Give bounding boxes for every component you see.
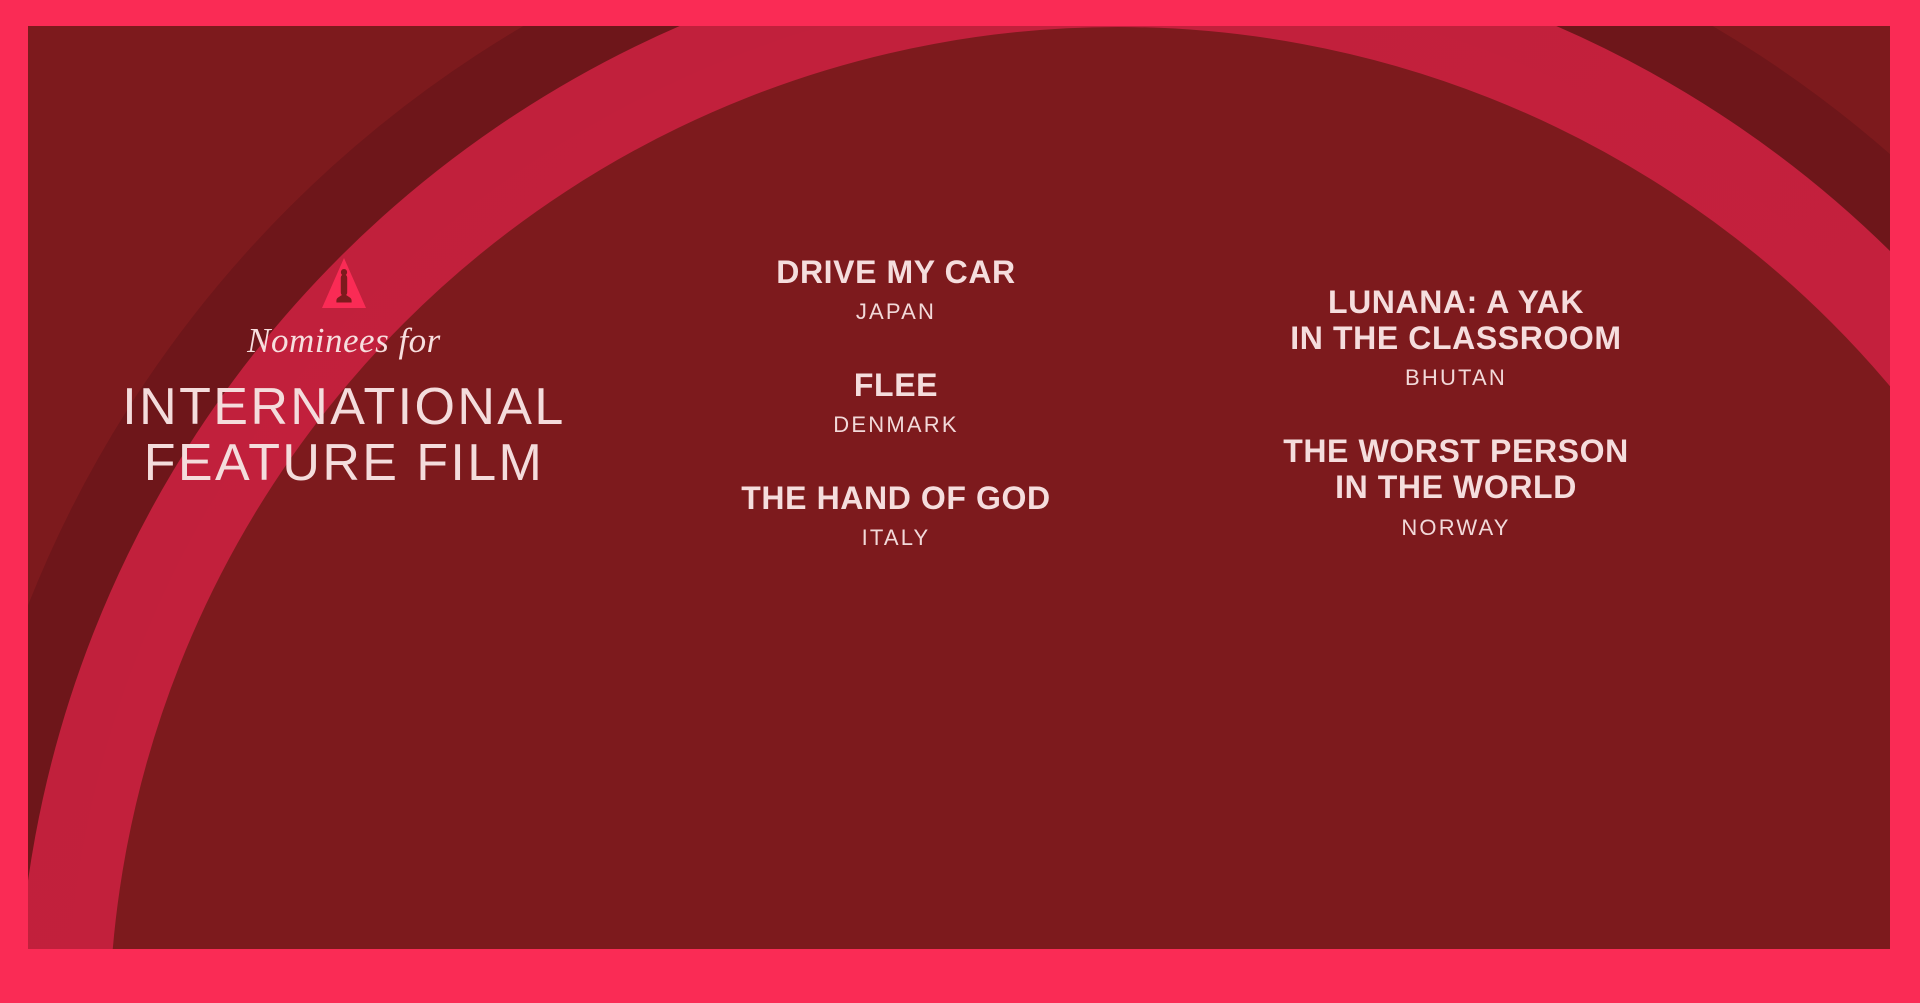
nominee-entry: THE HAND OF GOD ITALY (616, 480, 1176, 551)
nominee-title: THE HAND OF GOD (616, 480, 1176, 516)
nominee-column-center: DRIVE MY CAR JAPAN FLEE DENMARK THE HAND… (616, 254, 1176, 551)
nominee-title-line: IN THE WORLD (1146, 469, 1766, 505)
nominee-entry: THE WORST PERSON IN THE WORLD NORWAY (1146, 433, 1766, 540)
nominee-country: JAPAN (616, 299, 1176, 325)
nominee-title: LUNANA: A YAK IN THE CLASSROOM (1146, 284, 1766, 356)
category-title-line-2: FEATURE FILM (88, 435, 600, 491)
nominee-country: ITALY (616, 525, 1176, 551)
nominee-title-line: THE HAND OF GOD (616, 480, 1176, 516)
nominee-title-line: THE WORST PERSON (1146, 433, 1766, 469)
nominee-column-right: LUNANA: A YAK IN THE CLASSROOM BHUTAN TH… (1146, 284, 1766, 541)
oscar-statue-icon (322, 258, 366, 308)
nominee-title: FLEE (616, 367, 1176, 403)
nominee-card-stage: Nominees for INTERNATIONAL FEATURE FILM … (28, 26, 1890, 949)
category-block: Nominees for INTERNATIONAL FEATURE FILM (88, 258, 600, 491)
card-content: Nominees for INTERNATIONAL FEATURE FILM … (28, 26, 1890, 949)
nominee-entry: FLEE DENMARK (616, 367, 1176, 438)
nominee-title-line: IN THE CLASSROOM (1146, 320, 1766, 356)
nominee-title: DRIVE MY CAR (616, 254, 1176, 290)
outer-frame: Nominees for INTERNATIONAL FEATURE FILM … (0, 0, 1920, 1003)
nominee-entry: LUNANA: A YAK IN THE CLASSROOM BHUTAN (1146, 284, 1766, 391)
category-title-line-1: INTERNATIONAL (88, 379, 600, 435)
nominee-title-line: DRIVE MY CAR (616, 254, 1176, 290)
nominee-country: NORWAY (1146, 515, 1766, 541)
nominee-entry: DRIVE MY CAR JAPAN (616, 254, 1176, 325)
nominee-title: THE WORST PERSON IN THE WORLD (1146, 433, 1766, 505)
nominee-country: DENMARK (616, 412, 1176, 438)
category-eyebrow: Nominees for (88, 322, 600, 361)
nominee-title-line: LUNANA: A YAK (1146, 284, 1766, 320)
category-title: INTERNATIONAL FEATURE FILM (88, 379, 600, 491)
nominee-country: BHUTAN (1146, 365, 1766, 391)
nominee-title-line: FLEE (616, 367, 1176, 403)
